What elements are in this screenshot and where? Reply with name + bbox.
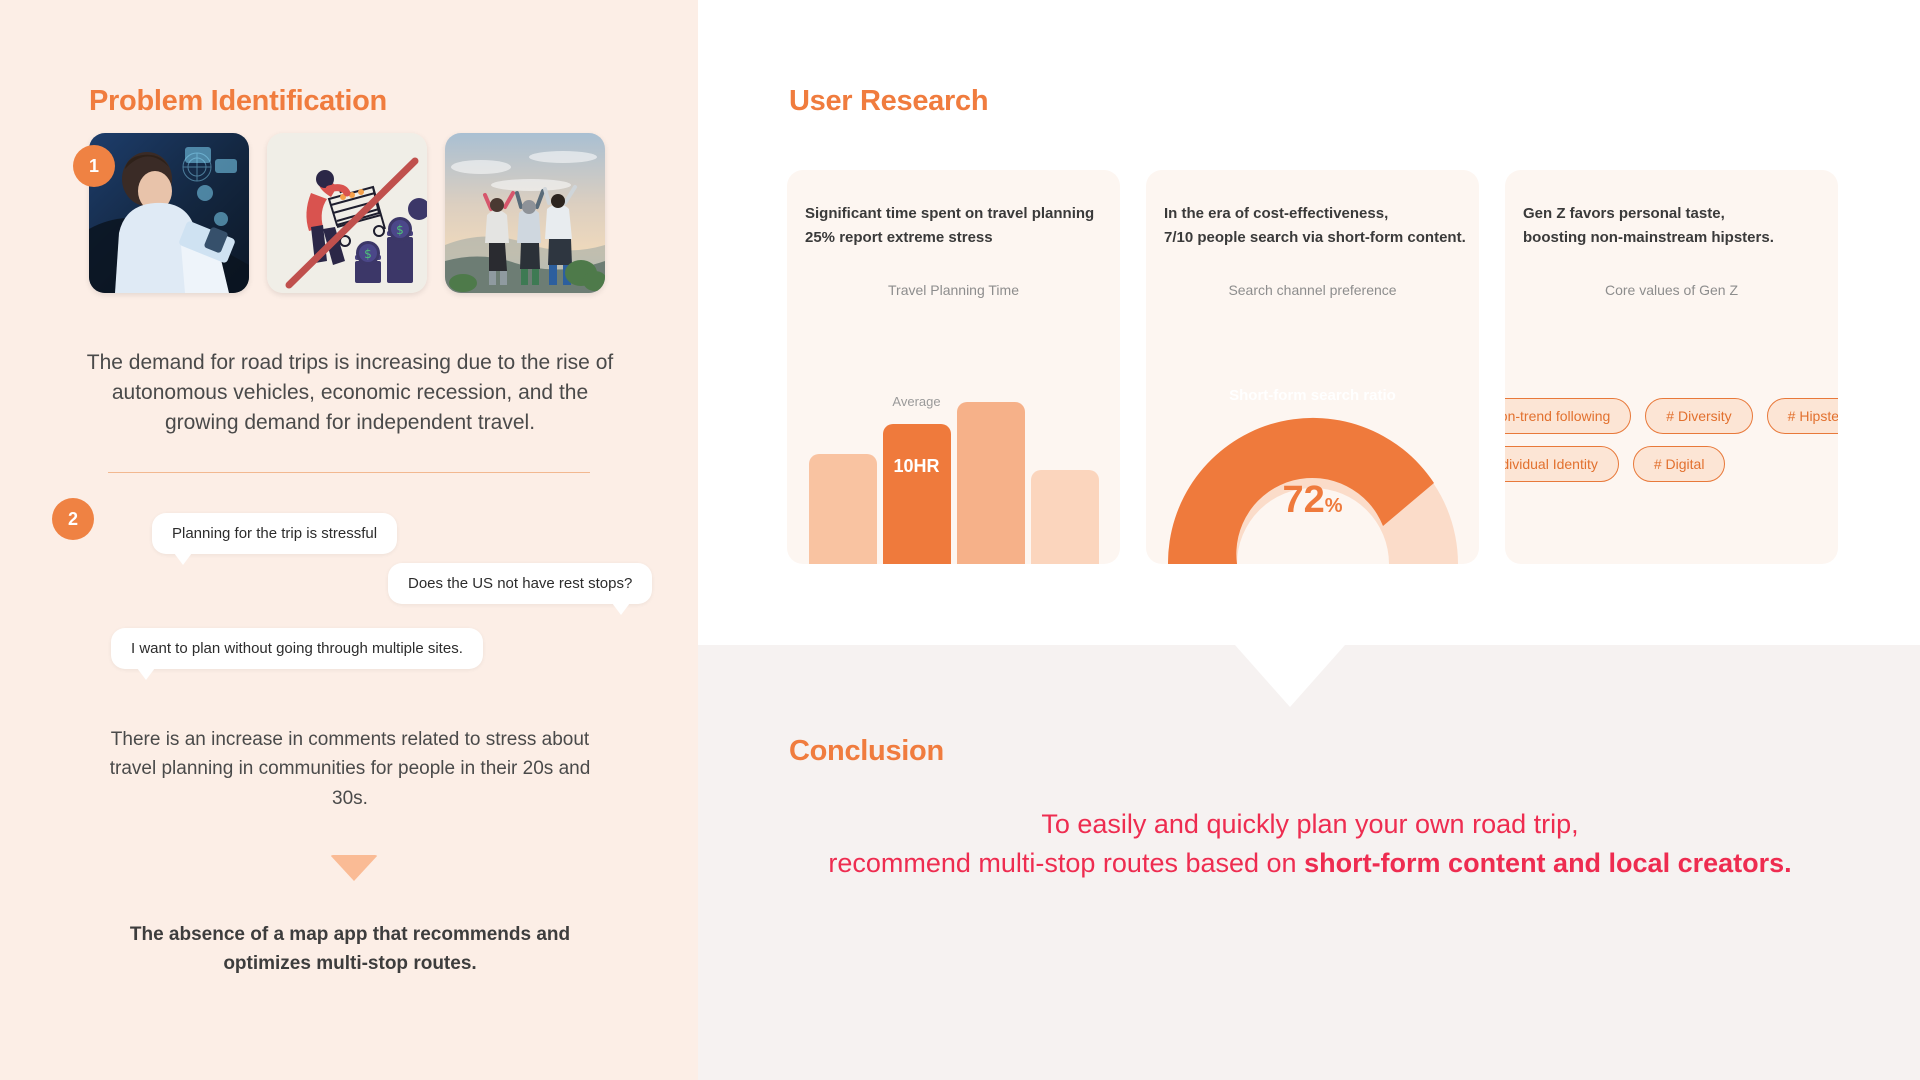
friends-on-mountain-photo — [445, 133, 605, 293]
svg-text:$: $ — [396, 223, 404, 237]
problem-statement-text: The absence of a map app that recommends… — [100, 920, 600, 979]
bar-item — [957, 402, 1025, 564]
gauge-svg — [1146, 349, 1479, 564]
rising-cost-illustration: $ $ — [267, 133, 427, 293]
tag-hipster[interactable]: # Hipster — [1767, 398, 1838, 434]
section-notch-icon — [1235, 645, 1345, 707]
step-badge-1: 1 — [73, 145, 115, 187]
step-badge-2: 2 — [52, 498, 94, 540]
card-subtitle: Core values of Gen Z — [1505, 282, 1838, 298]
community-insight-text: There is an increase in comments related… — [100, 725, 600, 813]
conclusion-text: To easily and quickly plan your own road… — [780, 805, 1840, 883]
bar-chart: Average 10HR — [787, 384, 1120, 564]
quote-bubble: Does the US not have rest stops? — [388, 563, 652, 604]
tag-cloud: # Non-trend following # Diversity # Hips… — [1505, 398, 1838, 482]
gauge-label: Short-form search ratio — [1146, 387, 1479, 404]
card-headline: In the era of cost-effectiveness,7/10 pe… — [1164, 202, 1467, 251]
user-quote-bubbles: Planning for the trip is stressful Does … — [0, 495, 698, 655]
research-card-search-channel: In the era of cost-effectiveness,7/10 pe… — [1146, 170, 1479, 564]
thumbnail-row: $ $ — [89, 133, 605, 293]
problem-lead-text: The demand for road trips is increasing … — [85, 348, 615, 437]
conclusion-line-2-prefix: recommend multi-stop routes based on — [828, 848, 1304, 878]
page-title-problem-identification: Problem Identification — [89, 85, 387, 118]
problem-identification-panel: Problem Identification — [0, 0, 698, 1080]
research-card-travel-planning-time: Significant time spent on travel plannin… — [787, 170, 1120, 564]
down-triangle-icon — [330, 855, 378, 881]
bar-item-average: Average 10HR — [883, 424, 951, 564]
gauge-unit: % — [1325, 495, 1343, 517]
presentation-slide: Problem Identification — [0, 0, 1920, 1080]
page-title-conclusion: Conclusion — [789, 735, 944, 768]
quote-bubble: Planning for the trip is stressful — [152, 513, 397, 554]
bar-item — [1031, 470, 1099, 564]
tag-diversity[interactable]: # Diversity — [1645, 398, 1752, 434]
card-headline: Significant time spent on travel plannin… — [805, 202, 1108, 251]
section-divider — [108, 472, 590, 473]
tag-digital[interactable]: # Digital — [1633, 446, 1726, 482]
research-card-row: Significant time spent on travel plannin… — [787, 170, 1838, 564]
card-headline: Gen Z favors personal taste,boosting non… — [1523, 202, 1826, 251]
tag-individual-identity[interactable]: # Individual Identity — [1505, 446, 1619, 482]
bar-annotation-average: Average — [883, 394, 951, 409]
celebration-image — [445, 133, 605, 293]
gauge-number: 72 — [1282, 479, 1324, 521]
bar-item — [809, 454, 877, 564]
tag-non-trend-following[interactable]: # Non-trend following — [1505, 398, 1631, 434]
card-subtitle: Search channel preference — [1146, 282, 1479, 298]
page-title-user-research: User Research — [789, 85, 988, 118]
card-subtitle: Travel Planning Time — [787, 282, 1120, 298]
research-card-gen-z-values: Gen Z favors personal taste,boosting non… — [1505, 170, 1838, 564]
gauge-value: 72% — [1146, 479, 1479, 522]
svg-text:$: $ — [364, 247, 372, 261]
conclusion-line-1: To easily and quickly plan your own road… — [1041, 809, 1578, 839]
bar-value-label: 10HR — [883, 456, 951, 477]
quote-bubble: I want to plan without going through mul… — [111, 628, 483, 669]
cost-increase-image: $ $ — [267, 133, 427, 293]
semicircular-gauge-chart: Short-form search ratio 72% — [1146, 349, 1479, 564]
conclusion-line-2-highlight: short-form content and local creators. — [1304, 848, 1792, 878]
